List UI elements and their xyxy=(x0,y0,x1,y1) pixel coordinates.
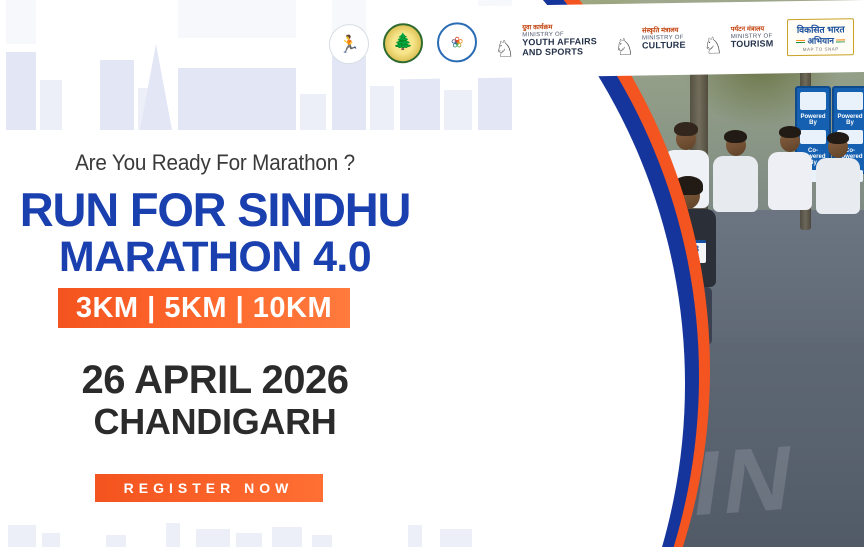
register-now-button[interactable]: REGISTER NOW xyxy=(95,474,323,502)
tricolour-icon xyxy=(796,40,805,43)
ministry-name-label: TOURISM xyxy=(731,39,774,49)
tagline: Are You Ready For Marathon ? xyxy=(13,150,417,176)
event-title-line2: MARATHON 4.0 xyxy=(0,233,430,282)
ministry-youth-affairs-sports: ♘ युवा कार्यक्रम MINISTRY OF YOUTH AFFAI… xyxy=(491,21,597,61)
national-emblem-icon: ♘ xyxy=(700,19,727,57)
national-emblem-icon: ♘ xyxy=(491,22,518,60)
pinwheel-icon: ❀ xyxy=(451,35,464,50)
national-emblem-icon: ♘ xyxy=(611,21,638,59)
event-city: CHANDIGARH xyxy=(0,401,430,443)
ministry-culture: ♘ संस्कृति मंत्रालय MINISTRY OF CULTURE xyxy=(611,20,686,59)
marathon-poster: RUN FOR SIN Powered By Co-Powered By Pow… xyxy=(0,0,864,547)
poster-content: Are You Ready For Marathon ? RUN FOR SIN… xyxy=(0,0,430,547)
khelo-india-logo: ❀ xyxy=(437,22,477,63)
event-date: 26 APRIL 2026 xyxy=(0,358,430,403)
viksit-line2: अभियान xyxy=(807,35,834,45)
ministry-tourism: ♘ पर्यटन मंत्रालय MINISTRY OF TOURISM xyxy=(700,18,774,57)
viksit-bharat-logo: विकसित भारत अभियान MAP TO SNAP xyxy=(787,18,854,56)
distance-banner: 3KM | 5KM | 10KM xyxy=(58,288,350,328)
viksit-line3: MAP TO SNAP xyxy=(794,46,847,52)
sponsor-logo-bar: 🏃 🌲 ❀ ♘ युवा कार्यक्रम MINISTRY OF YOUTH… xyxy=(380,0,864,80)
tricolour-icon xyxy=(836,39,845,42)
ministry-name-label-2: AND SPORTS xyxy=(522,47,597,58)
event-title-line1: RUN FOR SINDHU xyxy=(0,182,430,237)
viksit-line1: विकसित भारत xyxy=(797,24,845,35)
ministry-name-label: CULTURE xyxy=(642,41,686,51)
